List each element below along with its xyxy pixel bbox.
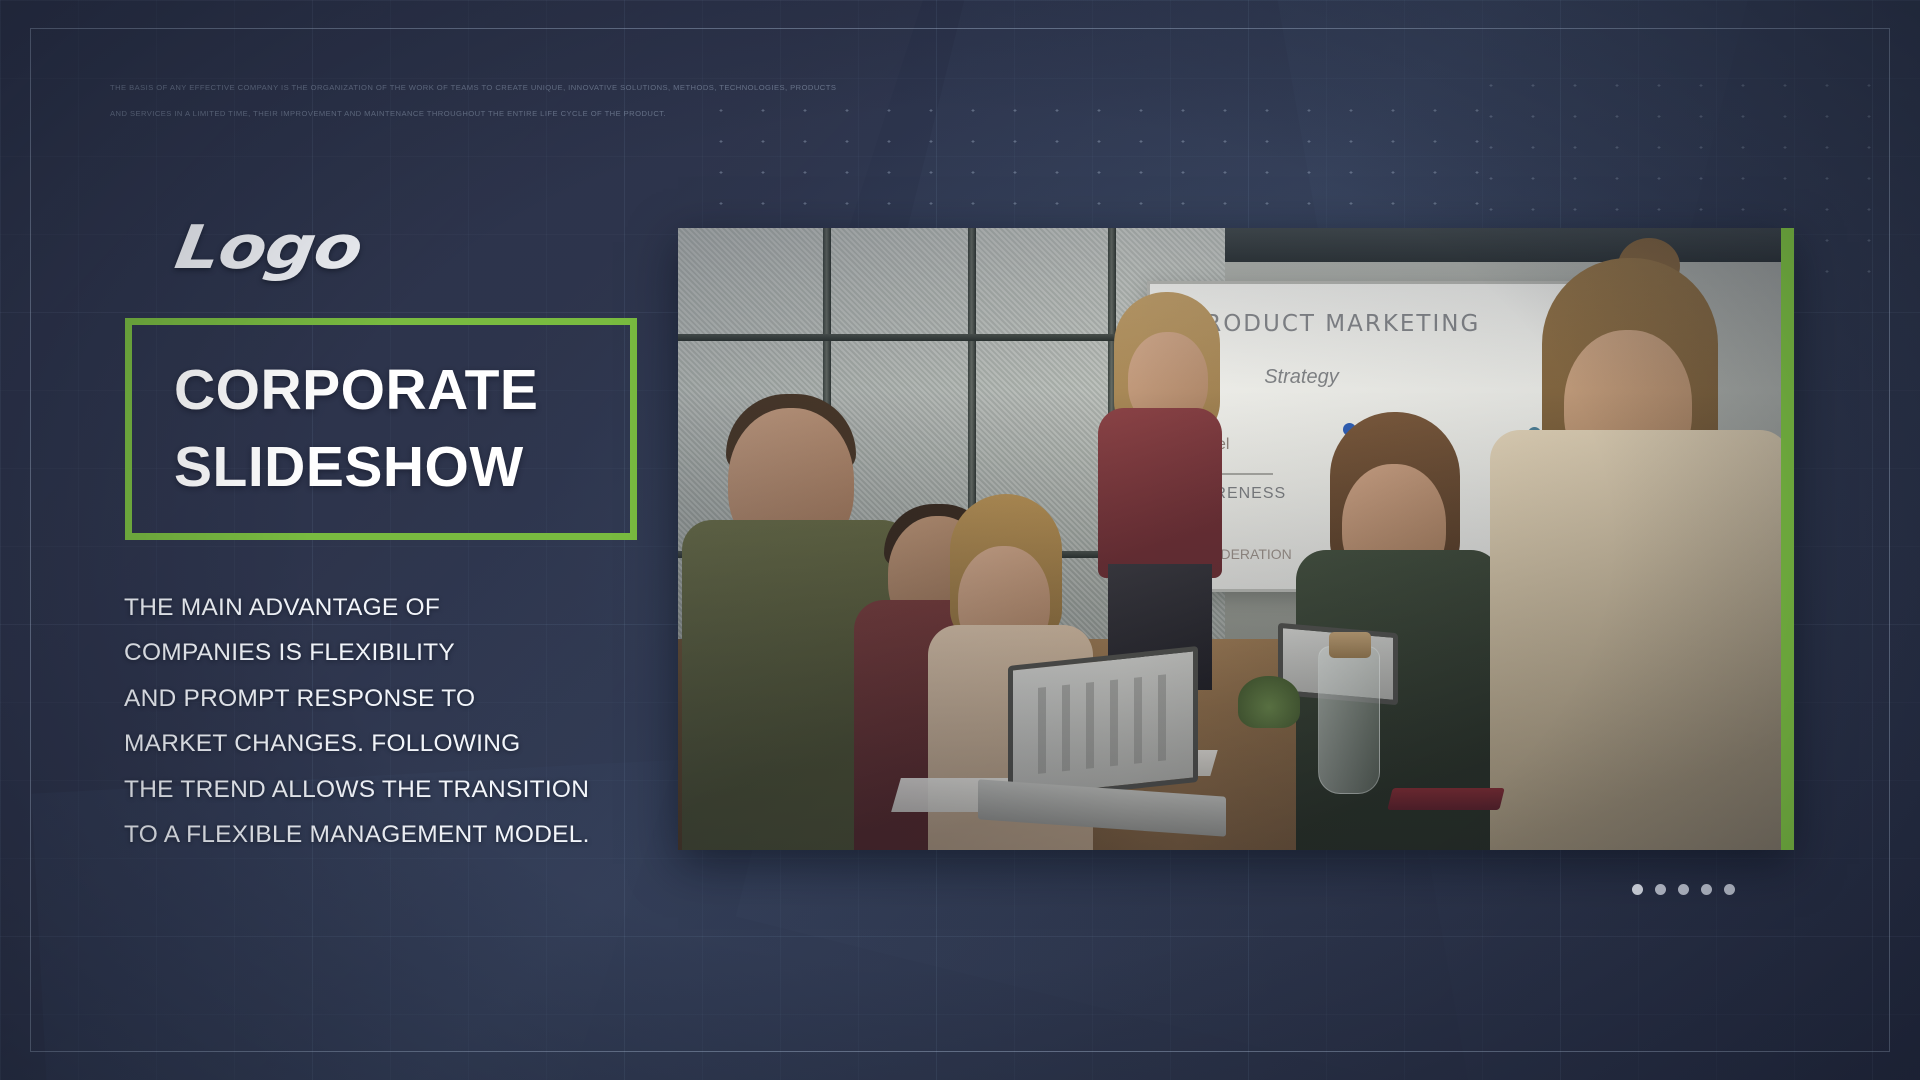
whiteboard-title: PRODUCT MARKETING (1189, 311, 1480, 337)
slide-title-box: CORPORATE SLIDESHOW (125, 318, 637, 540)
photo-laptop-chart (1038, 674, 1168, 773)
brand-logo[interactable]: Logo (170, 213, 366, 283)
photo-water-bottle (1318, 646, 1380, 794)
photo-scene: PRODUCT MARKETING Strategy Funnel AWAREN… (678, 228, 1794, 850)
pagination-dot-4[interactable] (1701, 884, 1712, 895)
body-line-1: THE MAIN ADVANTAGE OF (124, 585, 644, 630)
slide-body-copy: THE MAIN ADVANTAGE OF COMPANIES IS FLEXI… (124, 585, 644, 857)
pagination-dot-3[interactable] (1678, 884, 1689, 895)
photo-laptop-screen (1008, 646, 1198, 802)
slide-photo-panel: PRODUCT MARKETING Strategy Funnel AWAREN… (678, 228, 1794, 850)
meeting-room-photo: PRODUCT MARKETING Strategy Funnel AWAREN… (678, 228, 1794, 850)
slide-title-line-2: SLIDESHOW (174, 429, 630, 506)
body-line-3: AND PROMPT RESPONSE TO (124, 676, 644, 721)
photo-presenter (1098, 290, 1224, 690)
photo-notebook (1387, 788, 1504, 810)
marquee-text-top: THE BASIS OF ANY EFFECTIVE COMPANY IS TH… (110, 75, 836, 127)
slide-canvas: THE BASIS OF ANY EFFECTIVE COMPANY IS TH… (0, 0, 1920, 1080)
pagination-dot-1[interactable] (1632, 884, 1643, 895)
pagination-dot-2[interactable] (1655, 884, 1666, 895)
pagination-dot-5[interactable] (1724, 884, 1735, 895)
body-line-4: MARKET CHANGES. FOLLOWING (124, 721, 644, 766)
slide-pagination[interactable] (1632, 884, 1735, 895)
slide-title-line-1: CORPORATE (174, 352, 630, 429)
body-line-6: TO A FLEXIBLE MANAGEMENT MODEL. (124, 812, 644, 857)
photo-plant (1238, 676, 1300, 728)
photo-presenter-body (1098, 408, 1222, 578)
photo-person-6 (1490, 230, 1790, 850)
marquee-top-line-2: AND SERVICES IN A LIMITED TIME, THEIR IM… (110, 101, 836, 127)
whiteboard-subtitle: Strategy (1264, 366, 1338, 389)
photo-bottle-cap (1329, 632, 1371, 658)
body-line-2: COMPANIES IS FLEXIBILITY (124, 630, 644, 675)
photo-person-6-body (1490, 430, 1790, 850)
marquee-top-line-1: THE BASIS OF ANY EFFECTIVE COMPANY IS TH… (110, 75, 836, 101)
body-line-5: THE TREND ALLOWS THE TRANSITION (124, 767, 644, 812)
photo-green-accent-bar (1781, 228, 1794, 850)
